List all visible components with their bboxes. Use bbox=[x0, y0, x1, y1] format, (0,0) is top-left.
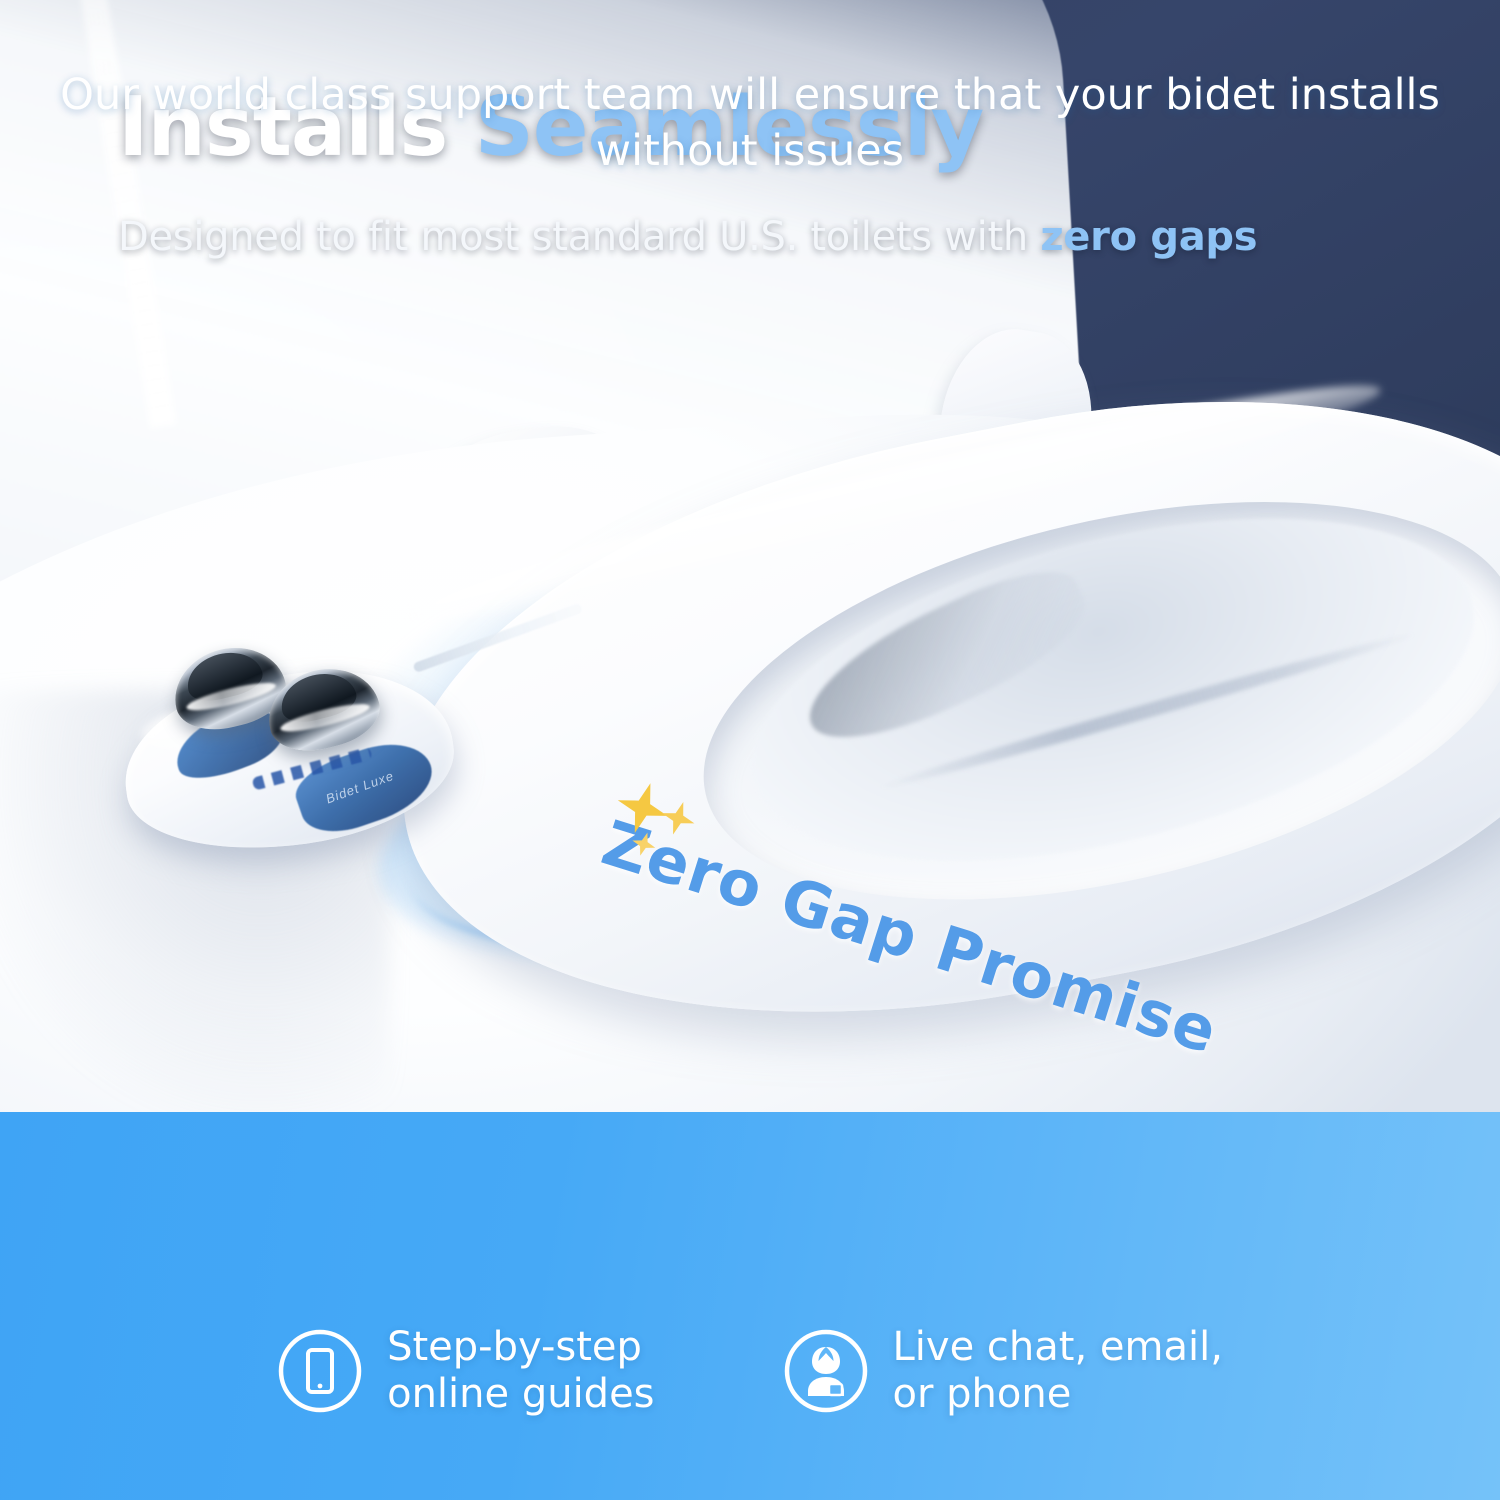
support-panel-copy: Our world class support team will ensure… bbox=[0, 68, 1500, 180]
support-panel bbox=[0, 1112, 1500, 1500]
feature-live-support: Live chat, email, or phone bbox=[783, 1324, 1223, 1418]
page-subtitle: Designed to fit most standard U.S. toile… bbox=[118, 214, 1257, 260]
mobile-phone-icon bbox=[277, 1328, 363, 1414]
product-marketing-image: Bidet Luxe Zero Gap Promise Install bbox=[0, 0, 1500, 1500]
subhead-part-accent: zero gaps bbox=[1040, 214, 1257, 260]
subhead-part-primary: Designed to fit most standard U.S. toile… bbox=[118, 214, 1040, 260]
feature-online-guides: Step-by-step online guides bbox=[277, 1324, 654, 1418]
support-feature-list: Step-by-step online guides Live chat, em… bbox=[0, 1324, 1500, 1418]
feature-label: Live chat, email, or phone bbox=[893, 1324, 1223, 1418]
feature-label: Step-by-step online guides bbox=[387, 1324, 654, 1418]
support-agent-icon bbox=[783, 1328, 869, 1414]
mobile-phone-svg bbox=[277, 1328, 363, 1414]
support-agent-svg bbox=[783, 1328, 869, 1414]
